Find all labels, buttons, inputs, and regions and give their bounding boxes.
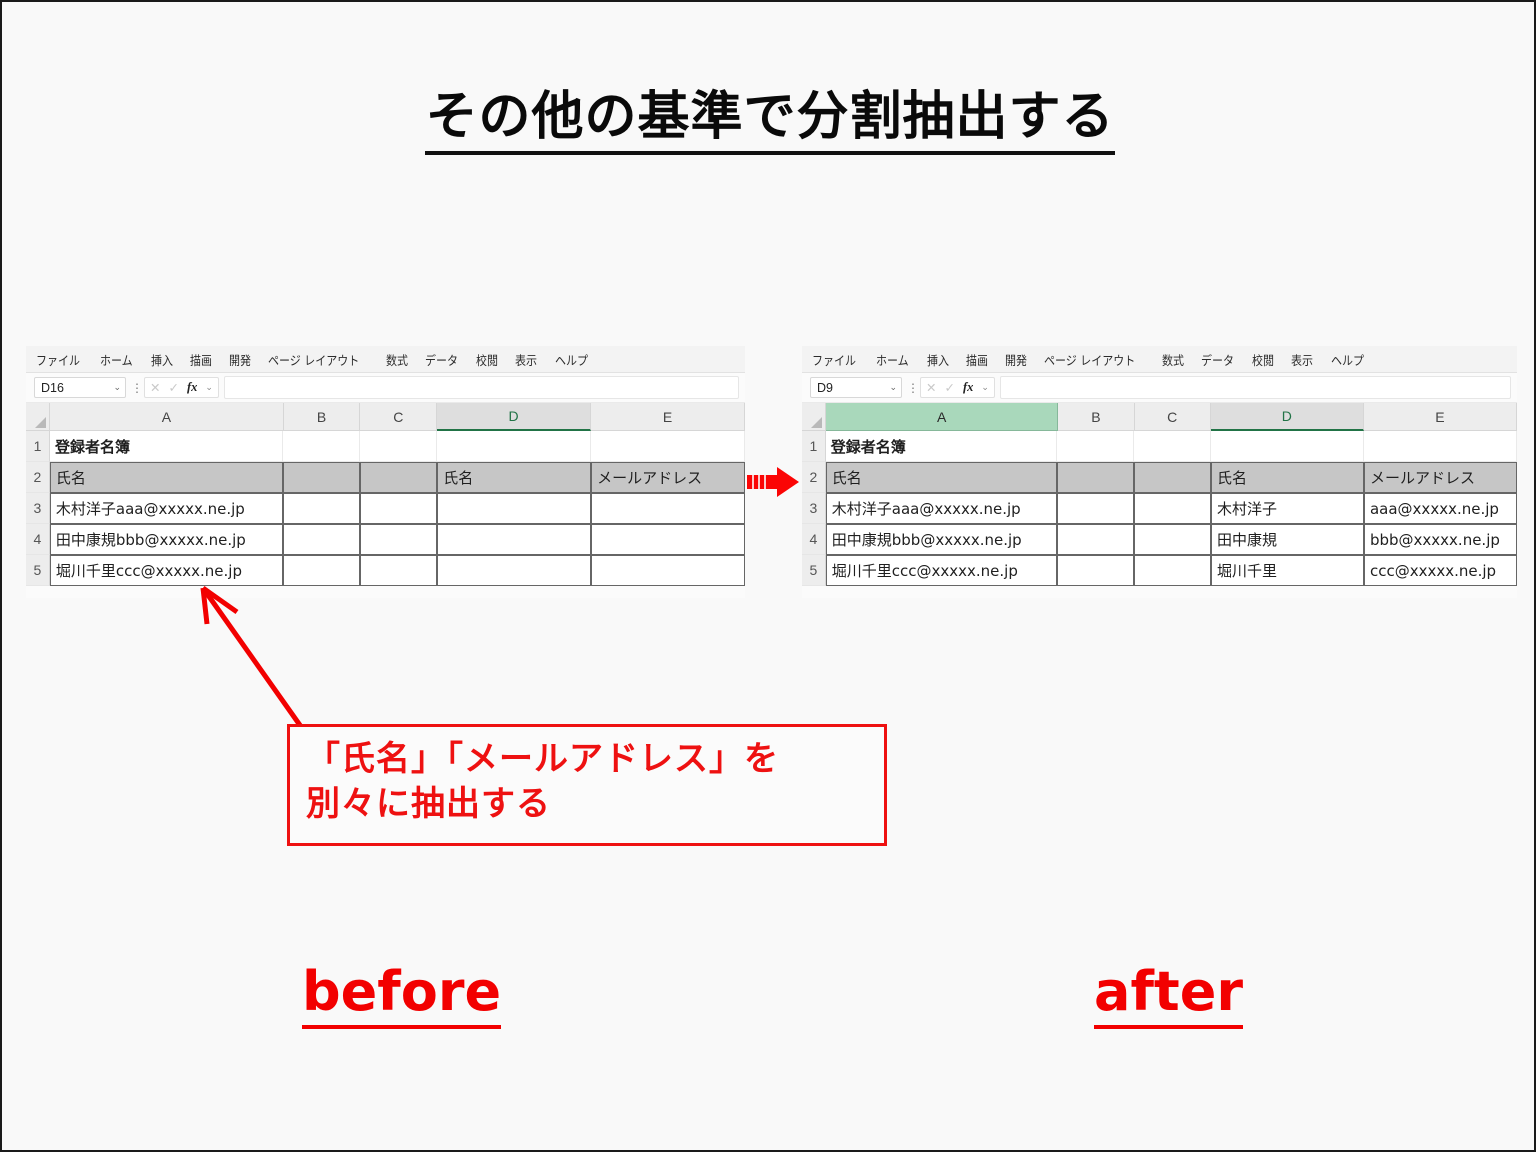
table-row: 5 堀川千里ccc@xxxxx.ne.jp <box>26 555 745 586</box>
row-header-4[interactable]: 4 <box>802 524 826 555</box>
cell-d5[interactable] <box>437 555 591 586</box>
cell-e2[interactable]: メールアドレス <box>1364 462 1517 493</box>
ribbon-tab-formulas[interactable]: 数式 <box>1162 350 1184 369</box>
cell-c5[interactable] <box>1134 555 1211 586</box>
table-row: 4 田中康規bbb@xxxxx.ne.jp <box>26 524 745 555</box>
chevron-down-icon[interactable]: ⌄ <box>981 382 989 393</box>
chevron-down-icon[interactable]: ⌄ <box>113 382 121 393</box>
cell-a1[interactable]: 登録者名簿 <box>826 431 1058 462</box>
cell-a1[interactable]: 登録者名簿 <box>50 431 283 462</box>
cell-c3[interactable] <box>1134 493 1211 524</box>
spreadsheet-grid-after: A B C D E 1 登録者名簿 2 氏名 氏名 メールアドレス <box>802 403 1517 586</box>
after-label: after <box>1094 960 1243 1023</box>
callout-line-2: 別々に抽出する <box>306 782 870 827</box>
ribbon-tab-draw[interactable]: 描画 <box>966 350 988 369</box>
ribbon-tab-developer[interactable]: 開発 <box>229 350 251 369</box>
annotation-callout: 「氏名」「メールアドレス」を 別々に抽出する <box>287 724 887 846</box>
formula-input-before[interactable] <box>224 376 739 399</box>
ribbon-tab-help[interactable]: ヘルプ <box>1331 350 1364 369</box>
cell-e1[interactable] <box>1364 431 1517 462</box>
slide-canvas: その他の基準で分割抽出する ファイル ホーム 挿入 描画 開発 ページ レイアウ… <box>0 0 1536 1152</box>
cell-e5[interactable]: ccc@xxxxx.ne.jp <box>1364 555 1517 586</box>
cell-c2[interactable] <box>1134 462 1211 493</box>
cell-a5[interactable]: 堀川千里ccc@xxxxx.ne.jp <box>826 555 1058 586</box>
cell-a2[interactable]: 氏名 <box>50 462 283 493</box>
before-label: before <box>302 960 501 1023</box>
cell-d4[interactable] <box>437 524 591 555</box>
ribbon-tab-data[interactable]: データ <box>425 350 458 369</box>
ribbon-tab-formulas[interactable]: 数式 <box>386 350 408 369</box>
cell-e5[interactable] <box>591 555 745 586</box>
formula-bar-before: D16 ⌄ ⋮ ✕ ✓ fx ⌄ <box>26 373 745 403</box>
ribbon-tab-insert[interactable]: 挿入 <box>927 350 949 369</box>
ribbon-tab-help[interactable]: ヘルプ <box>555 350 588 369</box>
kebab-menu-icon[interactable]: ⋮ <box>131 384 139 392</box>
column-header-e[interactable]: E <box>1364 403 1517 431</box>
row-header-1[interactable]: 1 <box>26 431 50 462</box>
cell-c3[interactable] <box>360 493 437 524</box>
fx-icon[interactable]: fx <box>963 380 973 395</box>
callout-pointer-arrow-icon <box>187 580 317 740</box>
page-title: その他の基準で分割抽出する <box>2 74 1536 149</box>
formula-input-after[interactable] <box>1000 376 1511 399</box>
ribbon-tab-data[interactable]: データ <box>1201 350 1234 369</box>
before-label-text: before <box>302 960 501 1029</box>
column-header-b[interactable]: B <box>284 403 361 431</box>
name-box-after[interactable]: D9 ⌄ <box>810 377 902 398</box>
confirm-check-icon[interactable]: ✓ <box>168 380 178 395</box>
cell-e1[interactable] <box>591 431 745 462</box>
cell-a4[interactable]: 田中康規bbb@xxxxx.ne.jp <box>50 524 283 555</box>
cell-e3[interactable]: aaa@xxxxx.ne.jp <box>1364 493 1517 524</box>
column-header-a[interactable]: A <box>50 403 284 431</box>
row-header-1[interactable]: 1 <box>802 431 826 462</box>
row-header-5[interactable]: 5 <box>26 555 50 586</box>
cell-d3[interactable]: 木村洋子 <box>1211 493 1364 524</box>
cell-e3[interactable] <box>591 493 745 524</box>
table-row: 1 登録者名簿 <box>802 431 1517 462</box>
table-row: 5 堀川千里ccc@xxxxx.ne.jp 堀川千里 ccc@xxxxx.ne.… <box>802 555 1517 586</box>
ribbon-tab-file[interactable]: ファイル <box>812 350 856 369</box>
cell-a3[interactable]: 木村洋子aaa@xxxxx.ne.jp <box>826 493 1058 524</box>
cell-b5[interactable] <box>1057 555 1134 586</box>
row-header-2[interactable]: 2 <box>802 462 826 493</box>
cell-b2[interactable] <box>283 462 360 493</box>
column-header-row: A B C D E <box>802 403 1517 431</box>
table-row: 1 登録者名簿 <box>26 431 745 462</box>
ribbon-tab-pagelayout[interactable]: ページ レイアウト <box>268 350 359 369</box>
chevron-down-icon[interactable]: ⌄ <box>889 382 897 393</box>
confirm-check-icon[interactable]: ✓ <box>944 380 954 395</box>
column-header-c[interactable]: C <box>360 403 437 431</box>
cell-c5[interactable] <box>360 555 437 586</box>
callout-line-1: 「氏名」「メールアドレス」を <box>306 737 870 782</box>
ribbon-tab-view[interactable]: 表示 <box>515 350 537 369</box>
cell-a4[interactable]: 田中康規bbb@xxxxx.ne.jp <box>826 524 1058 555</box>
cell-d2[interactable]: 氏名 <box>437 462 591 493</box>
formula-controls-after: ✕ ✓ fx ⌄ <box>920 377 995 398</box>
cell-b1[interactable] <box>283 431 360 462</box>
row-header-3[interactable]: 3 <box>802 493 826 524</box>
excel-window-after: ファイル ホーム 挿入 描画 開発 ページ レイアウト 数式 データ 校閲 表示… <box>802 346 1517 598</box>
cell-c1[interactable] <box>360 431 437 462</box>
ribbon-tab-file[interactable]: ファイル <box>36 350 80 369</box>
table-row: 2 氏名 氏名 メールアドレス <box>802 462 1517 493</box>
ribbon-tab-draw[interactable]: 描画 <box>190 350 212 369</box>
cell-e2[interactable]: メールアドレス <box>591 462 745 493</box>
page-title-text: その他の基準で分割抽出する <box>425 87 1114 155</box>
row-header-5[interactable]: 5 <box>802 555 826 586</box>
table-row: 3 木村洋子aaa@xxxxx.ne.jp <box>26 493 745 524</box>
cell-a2[interactable]: 氏名 <box>826 462 1058 493</box>
cell-b2[interactable] <box>1057 462 1134 493</box>
cell-a5[interactable]: 堀川千里ccc@xxxxx.ne.jp <box>50 555 283 586</box>
table-row: 3 木村洋子aaa@xxxxx.ne.jp 木村洋子 aaa@xxxxx.ne.… <box>802 493 1517 524</box>
ribbon-tab-review[interactable]: 校閲 <box>476 350 498 369</box>
row-header-3[interactable]: 3 <box>26 493 50 524</box>
ribbon-menu-after: ファイル ホーム 挿入 描画 開発 ページ レイアウト 数式 データ 校閲 表示… <box>802 346 1517 373</box>
cell-b4[interactable] <box>283 524 360 555</box>
name-box-before[interactable]: D16 ⌄ <box>34 377 126 398</box>
cell-d2[interactable]: 氏名 <box>1211 462 1364 493</box>
ribbon-tab-view[interactable]: 表示 <box>1291 350 1313 369</box>
table-row: 2 氏名 氏名 メールアドレス <box>26 462 745 493</box>
cell-b3[interactable] <box>1057 493 1134 524</box>
cell-b5[interactable] <box>283 555 360 586</box>
kebab-menu-icon[interactable]: ⋮ <box>907 384 915 392</box>
right-block-arrow-icon <box>747 465 799 499</box>
row-header-2[interactable]: 2 <box>26 462 50 493</box>
cell-b4[interactable] <box>1057 524 1134 555</box>
cell-c4[interactable] <box>1134 524 1211 555</box>
cell-b1[interactable] <box>1057 431 1134 462</box>
cancel-x-icon[interactable]: ✕ <box>926 380 936 395</box>
column-header-c[interactable]: C <box>1135 403 1211 431</box>
cell-b3[interactable] <box>283 493 360 524</box>
ribbon-tab-pagelayout[interactable]: ページ レイアウト <box>1044 350 1135 369</box>
cell-c1[interactable] <box>1134 431 1211 462</box>
ribbon-tab-review[interactable]: 校閲 <box>1252 350 1274 369</box>
column-header-e[interactable]: E <box>591 403 745 431</box>
column-header-d[interactable]: D <box>437 403 591 431</box>
cell-d1[interactable] <box>1211 431 1364 462</box>
cell-a3[interactable]: 木村洋子aaa@xxxxx.ne.jp <box>50 493 283 524</box>
cell-c2[interactable] <box>360 462 437 493</box>
cell-d3[interactable] <box>437 493 591 524</box>
chevron-down-icon[interactable]: ⌄ <box>205 382 213 393</box>
after-label-text: after <box>1094 960 1243 1029</box>
column-header-a[interactable]: A <box>826 403 1058 431</box>
formula-bar-after: D9 ⌄ ⋮ ✕ ✓ fx ⌄ <box>802 373 1517 403</box>
ribbon-menu-before: ファイル ホーム 挿入 描画 開発 ページ レイアウト 数式 データ 校閲 表示… <box>26 346 745 373</box>
cancel-x-icon[interactable]: ✕ <box>150 380 160 395</box>
table-row: 4 田中康規bbb@xxxxx.ne.jp 田中康規 bbb@xxxxx.ne.… <box>802 524 1517 555</box>
fx-icon[interactable]: fx <box>187 380 197 395</box>
excel-window-before: ファイル ホーム 挿入 描画 開発 ページ レイアウト 数式 データ 校閲 表示… <box>26 346 745 598</box>
column-header-d[interactable]: D <box>1211 403 1364 431</box>
cell-c4[interactable] <box>360 524 437 555</box>
cell-d5[interactable]: 堀川千里 <box>1211 555 1364 586</box>
spreadsheet-grid-before: A B C D E 1 登録者名簿 2 氏名 氏名 <box>26 403 745 586</box>
name-box-value: D16 <box>41 381 64 395</box>
select-all-corner[interactable] <box>26 403 50 431</box>
name-box-value: D9 <box>817 381 833 395</box>
ribbon-tab-insert[interactable]: 挿入 <box>151 350 173 369</box>
row-header-4[interactable]: 4 <box>26 524 50 555</box>
cell-e4[interactable] <box>591 524 745 555</box>
cell-e4[interactable]: bbb@xxxxx.ne.jp <box>1364 524 1517 555</box>
ribbon-tab-home[interactable]: ホーム <box>100 350 133 369</box>
formula-controls-before: ✕ ✓ fx ⌄ <box>144 377 219 398</box>
select-all-corner[interactable] <box>802 403 826 431</box>
ribbon-tab-developer[interactable]: 開発 <box>1005 350 1027 369</box>
cell-d1[interactable] <box>437 431 591 462</box>
cell-d4[interactable]: 田中康規 <box>1211 524 1364 555</box>
ribbon-tab-home[interactable]: ホーム <box>876 350 909 369</box>
column-header-row: A B C D E <box>26 403 745 431</box>
column-header-b[interactable]: B <box>1058 403 1134 431</box>
